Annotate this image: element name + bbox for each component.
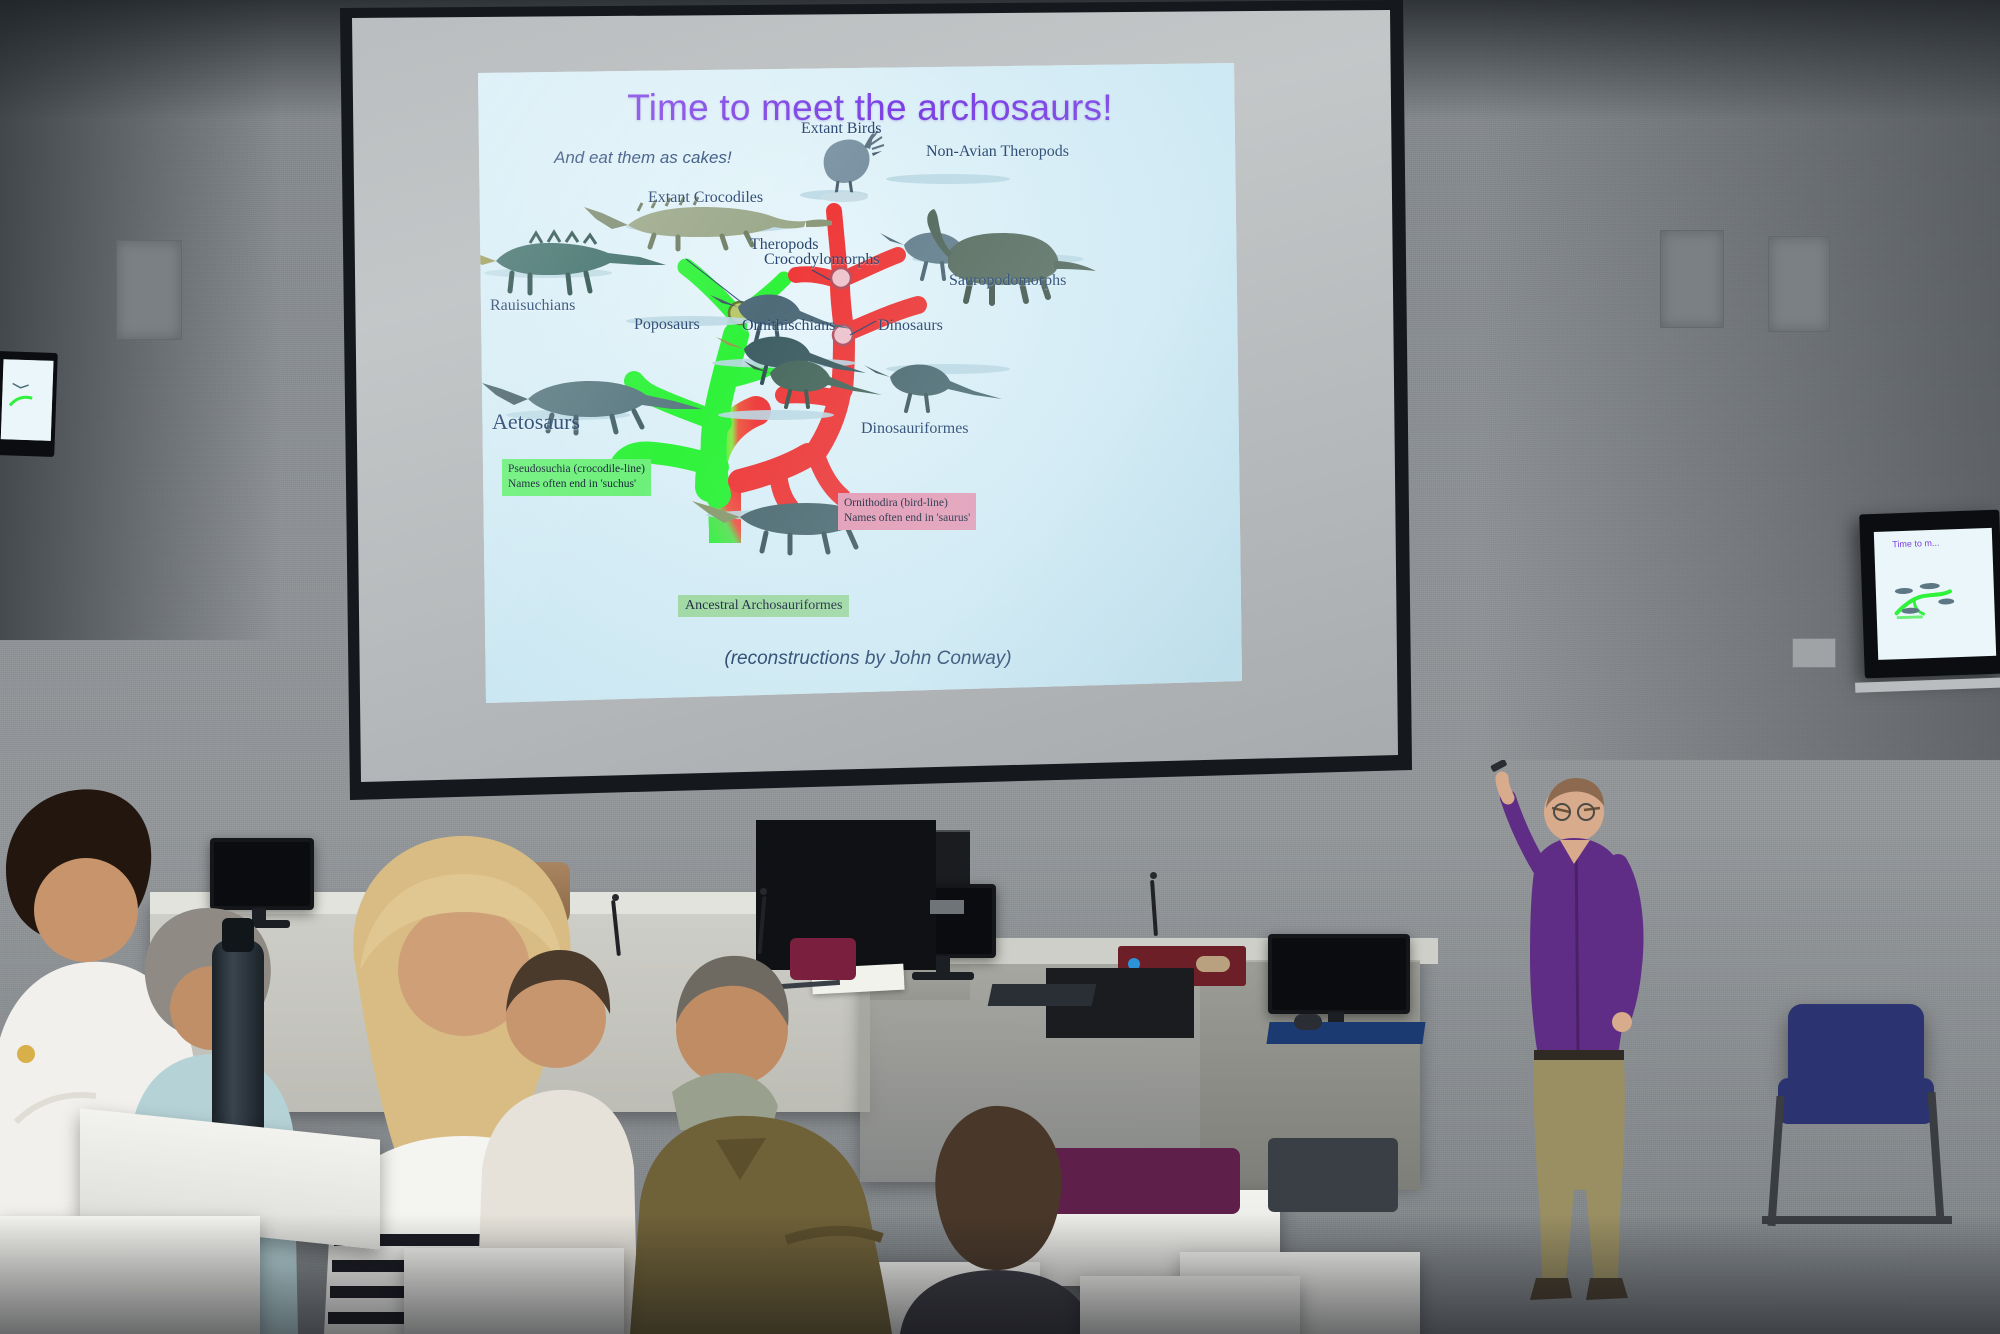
presenter-shirt-placket (1576, 840, 1578, 1052)
presenter-hand (1612, 1012, 1632, 1032)
presenter-arm-raised (1502, 778, 1540, 868)
microphone-3-head (1150, 872, 1157, 879)
water-bottle-cap (222, 918, 254, 952)
mouse[interactable] (1294, 1014, 1322, 1030)
side-monitor-title: Time to m... (1892, 538, 1939, 550)
wall-socket[interactable] (1792, 638, 1836, 668)
acoustic-panel (1660, 230, 1724, 328)
label-extant-birds: Extant Birds (801, 120, 881, 138)
left-wall-monitor[interactable] (0, 351, 58, 457)
legend-ornithodira-line1: Ornithodira (bird-line) (844, 496, 970, 511)
label-ornithischians: Ornithischians (742, 317, 835, 335)
lecture-hall-scene: Time to meet the archosaurs! And eat the… (0, 0, 2000, 1334)
av-panel-knob[interactable] (1196, 956, 1230, 972)
label-dinosaurs: Dinosaurs (878, 317, 943, 335)
silhouette-rauisuchian (478, 232, 666, 293)
acoustic-panel (116, 240, 182, 340)
stacking-chair-seat[interactable] (1778, 1078, 1934, 1124)
foreground-vignette (0, 1214, 2000, 1334)
laser-pointer (1490, 760, 1507, 772)
label-extant-crocodiles: Extant Crocodiles (648, 189, 763, 207)
label-sauropodomorphs: Sauropodomorphs (949, 272, 1066, 290)
presentation-slide: Time to meet the archosaurs! And eat the… (478, 63, 1242, 703)
lectern-monitor-2[interactable] (1268, 934, 1410, 1014)
left-wall-monitor-screen (1, 359, 54, 441)
microphone-2-head (760, 888, 767, 895)
keyboard[interactable] (988, 984, 1097, 1006)
water-bottle[interactable] (212, 940, 264, 1140)
label-aetosaurs: Aetosaurs (492, 409, 580, 435)
slide-credit: (reconstructions by John Conway) (608, 648, 1128, 670)
side-wall-monitor[interactable]: Time to m... (1859, 510, 2000, 679)
label-poposaurs: Poposaurs (634, 316, 700, 334)
legend-pseudosuchia-line1: Pseudosuchia (crocodile-line) (508, 462, 645, 477)
label-theropods: Theropods (750, 236, 818, 254)
lecture-seat-dark[interactable] (1268, 1138, 1398, 1212)
legend-ornithodira: Ornithodira (bird-line) Names often end … (838, 493, 976, 530)
legend-ornithodira-line2: Names often end in 'saurus' (844, 511, 970, 526)
mouse-mat (1266, 1022, 1425, 1044)
acoustic-panel (1768, 236, 1830, 332)
slide-subtitle: And eat them as cakes! (554, 148, 732, 168)
left-monitor-thumbnail (1, 359, 54, 441)
legend-ancestral-archosauriformes: Ancestral Archosauriformes (678, 595, 849, 617)
legend-pseudosuchia: Pseudosuchia (crocodile-line) Names ofte… (502, 459, 651, 496)
label-non-avian-theropods: Non-Avian Theropods (926, 143, 1069, 161)
lectern-monitor-1-base (912, 972, 974, 980)
side-monitor-cladogram (1889, 577, 1964, 620)
legend-pseudosuchia-line2: Names often end in 'suchus' (508, 477, 645, 492)
side-monitor-screen: Time to m... (1874, 528, 1996, 660)
label-rauisuchians: Rauisuchians (490, 297, 575, 315)
label-dinosauriformes: Dinosauriformes (861, 420, 969, 438)
wall-plate (930, 900, 964, 914)
